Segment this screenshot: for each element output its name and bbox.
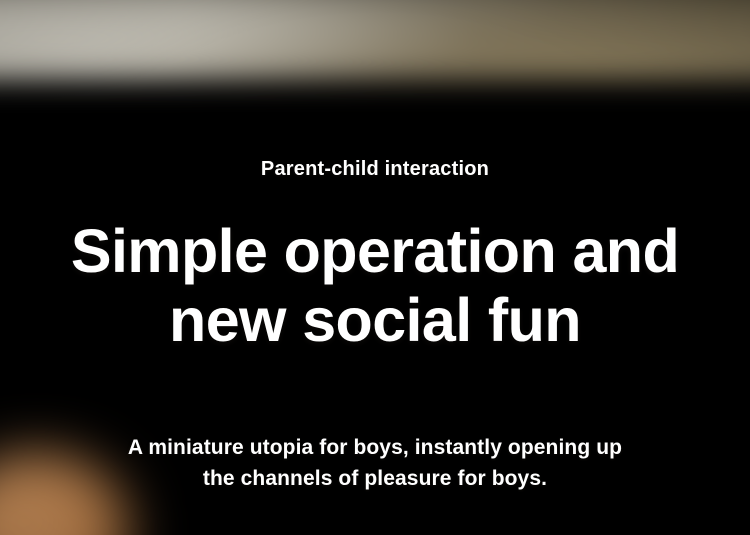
hero-subheadline: A miniature utopia for boys, instantly o… bbox=[128, 432, 622, 494]
hero-banner: Parent-child interaction Simple operatio… bbox=[0, 0, 750, 535]
hero-text-block: Parent-child interaction Simple operatio… bbox=[0, 0, 750, 535]
hero-subheadline-line-1: A miniature utopia for boys, instantly o… bbox=[128, 436, 622, 459]
hero-headline-line-2: new social fun bbox=[169, 286, 581, 354]
hero-eyebrow-label: Parent-child interaction bbox=[261, 156, 489, 182]
hero-headline-line-1: Simple operation and bbox=[71, 217, 679, 285]
hero-subheadline-line-2: the channels of pleasure for boys. bbox=[203, 467, 547, 490]
hero-headline: Simple operation and new social fun bbox=[71, 217, 679, 355]
